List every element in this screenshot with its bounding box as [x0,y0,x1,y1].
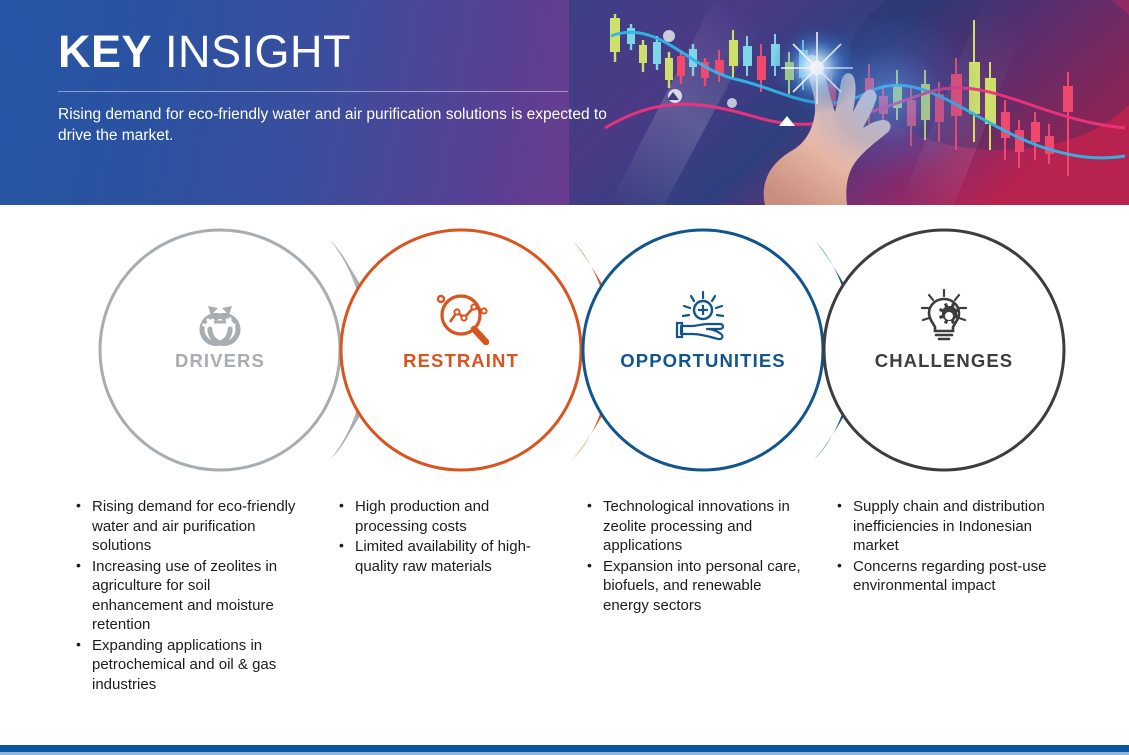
page-title-bold: KEY [58,26,152,77]
page-title-rest: INSIGHT [152,26,351,77]
header-text-block: KEY INSIGHT Rising demand for eco-friend… [58,26,578,146]
bullets-restraint: High production and processing costs Lim… [335,497,545,577]
list-item: Rising demand for eco-friendly water and… [72,497,300,556]
list-item: Increasing use of zeolites in agricultur… [72,557,300,635]
list-item: Concerns regarding post-use environmenta… [833,557,1057,596]
circle-label-challenges[interactable]: CHALLENGES [824,350,1064,372]
header-subtitle: Rising demand for eco-friendly water and… [58,104,633,146]
bullets-drivers: Rising demand for eco-friendly water and… [72,497,300,695]
title-divider [58,91,568,92]
footer-bar [0,745,1129,752]
circle-label-opportunities[interactable]: OPPORTUNITIES [583,350,823,372]
list-item: Supply chain and distribution inefficien… [833,497,1057,556]
stage-circles: DRIVERS RESTRAINT OPPORTUNITIES CHALLENG… [0,205,1129,495]
candlestick-chart-hand-photo [569,0,1129,205]
list-item: High production and processing costs [335,497,545,536]
list-item: Expansion into personal care, biofuels, … [583,557,805,616]
bullets-opportunities: Technological innovations in zeolite pro… [583,497,805,616]
circle-label-restraint[interactable]: RESTRAINT [341,350,581,372]
stages-area: DRIVERS RESTRAINT OPPORTUNITIES CHALLENG… [0,205,1129,755]
list-item: Limited availability of high-quality raw… [335,537,545,576]
list-item: Expanding applications in petrochemical … [72,636,300,695]
key-insight-infographic: KEY INSIGHT Rising demand for eco-friend… [0,0,1129,755]
bullets-challenges: Supply chain and distribution inefficien… [833,497,1057,597]
circle-label-drivers[interactable]: DRIVERS [100,350,340,372]
bullet-columns: Rising demand for eco-friendly water and… [0,497,1129,747]
header-banner: KEY INSIGHT Rising demand for eco-friend… [0,0,1129,205]
list-item: Technological innovations in zeolite pro… [583,497,805,556]
page-title: KEY INSIGHT [58,26,578,78]
